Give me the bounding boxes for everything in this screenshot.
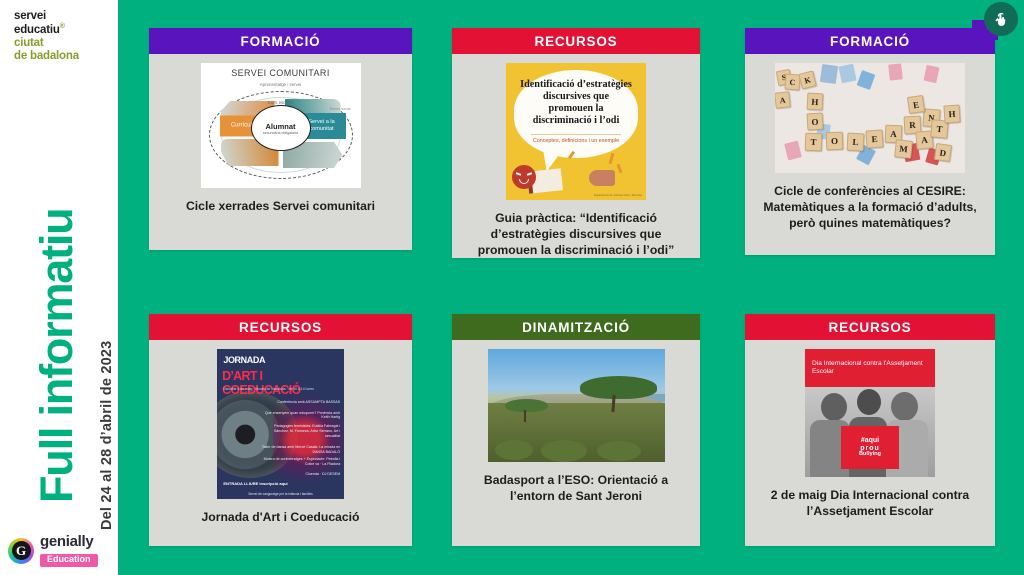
poster-program-item: Pedagogies feministes: Eulàlia Fabregat … [261, 424, 340, 439]
chip-pink-3 [785, 141, 803, 161]
poster-footnote: Servei de canguratge per la infància i f… [217, 492, 344, 496]
poster-program-item: Mostra de curtmetratges + Espectacle: Pe… [261, 457, 340, 467]
scrabble-tiles-photo: S A C K H O T O L E A R N M A T H [775, 63, 965, 173]
chip-pink-1 [888, 63, 903, 80]
card-body: Badasport a l’ESO: Orientació a l’entorn… [452, 340, 700, 514]
poster-title-line-1: JORNADA [223, 355, 337, 365]
photo-bush [597, 441, 641, 461]
content-card[interactable]: FORMACIÓ SERVEI COMUNITARI Aprenentatge … [149, 28, 412, 250]
page-title: Full informatiu [31, 63, 83, 503]
photo-tree-trunk [612, 395, 616, 413]
card-category-badge: RECURSOS [745, 314, 995, 340]
poster-subtitle: Conceptes, definicions i un exemple [531, 134, 621, 145]
card-category-badge: RECURSOS [452, 28, 700, 54]
photo-bush [495, 440, 533, 460]
antibullying-image: Dia Internacional contra l’Assetjament E… [805, 349, 935, 477]
card-category-badge: FORMACIÓ [149, 28, 412, 54]
scrabble-tile: H [807, 92, 824, 110]
photo-tree-canopy [580, 376, 658, 398]
scrabble-tile: E [866, 130, 884, 149]
content-card[interactable]: FORMACIÓ S A C K H [745, 28, 995, 255]
slide-canvas: servei educatiu® ciutat de badalona Full… [0, 0, 1024, 575]
poster-hand-illustration [589, 170, 615, 186]
hashtag-badge: #aqui prou Bullying [841, 426, 898, 470]
card-category-badge: RECURSOS [149, 314, 412, 340]
poster-program-item: Què ensenyem quan eduquem? Ponència amb … [261, 411, 340, 421]
poster-program-item: Cloenda · DJ DESEM [261, 472, 340, 477]
photo-person-head [857, 389, 881, 415]
card-body: S A C K H O T O L E A R N M A T H [745, 54, 995, 241]
poster-spark-1 [608, 153, 614, 164]
genially-logo-letter: G [12, 541, 31, 560]
card-thumbnail: Identificació d’estratègies discursives … [506, 63, 646, 200]
scrabble-tile: M [894, 139, 913, 159]
card-thumbnail: SERVEI COMUNITARI Aprenentatge i servei … [201, 63, 361, 188]
servei-comunitari-diagram: SERVEI COMUNITARI Aprenentatge i servei … [201, 63, 361, 188]
poster-subtitle: Dissabte 6 de maig · Museu de Badalona ·… [223, 387, 337, 391]
scrabble-tile: E [907, 95, 925, 114]
card-caption: 2 de maig Dia Internacional contra l’Ass… [755, 487, 985, 519]
photo-bush [541, 440, 587, 462]
photo-person-head [821, 393, 847, 421]
card-body: JORNADA D’ART I COEDUCACIÓ Dissabte 6 de… [149, 340, 412, 535]
card-caption: Cicle de conferències al CESIRE: Matemàt… [755, 183, 985, 231]
hand-pointer-icon [993, 11, 1010, 28]
poster-face-mouth [519, 179, 529, 184]
card-caption: Guia pràctica: “Identificació d’estratèg… [462, 210, 690, 258]
scrabble-tile: A [775, 91, 791, 108]
card-category-badge: FORMACIÓ [745, 28, 995, 54]
hashtag-line-1: #aqui [861, 437, 879, 444]
card-thumbnail: S A C K H O T O L E A R N M A T H [775, 63, 965, 173]
card-caption: Cicle xerrades Servei comunitari [184, 198, 377, 214]
poster-angry-face-icon [512, 165, 536, 189]
interactive-hint-button[interactable] [984, 2, 1018, 36]
scrabble-tile: K [798, 70, 816, 89]
scrabble-tile: D [933, 143, 951, 162]
scrabble-tile: H [943, 104, 960, 123]
logo-line-1: servei [14, 10, 106, 23]
card-thumbnail [488, 349, 665, 462]
diagram-center-node: Alumnat secundària obligatòria [251, 105, 311, 151]
organization-logo: servei educatiu® ciutat de badalona [14, 10, 106, 63]
chip-blue-3 [856, 70, 875, 90]
jornada-art-poster: JORNADA D’ART I COEDUCACIÓ Dissabte 6 de… [217, 349, 344, 499]
poster-credit: Departament de Justícia, Drets i Memòria [594, 194, 642, 197]
speech-bubble-tail [542, 145, 566, 171]
logo-line-2: educatiu® [14, 23, 106, 37]
diagram-title: SERVEI COMUNITARI [201, 68, 361, 78]
photo-tree-canopy [505, 399, 547, 412]
card-body: Identificació d’estratègies discursives … [452, 54, 700, 268]
card-category-badge: DINAMITZACIÓ [452, 314, 700, 340]
vertical-title-block: Full informatiu Del 24 al 28 d’abril de … [0, 62, 110, 512]
genially-brand[interactable]: G genially Education [8, 534, 98, 567]
date-range-subtitle: Del 24 al 28 d’abril de 2023 [99, 270, 115, 530]
scrabble-tile: O [826, 132, 844, 151]
poster-title: Identificació d’estratègies discursives … [520, 79, 632, 127]
scrabble-tile: L [847, 133, 865, 152]
content-card[interactable]: RECURSOS Dia Internacional contra l’Asse… [745, 314, 995, 546]
sant-jeroni-landscape-photo [488, 349, 665, 462]
diagram-subtitle: Aprenentatge i servei [201, 82, 361, 87]
hashtag-line-3: Bullying [859, 452, 881, 458]
image-banner-text: Dia Internacional contra l’Assetjament E… [805, 349, 935, 387]
card-thumbnail: Dia Internacional contra l’Assetjament E… [805, 349, 935, 477]
chip-blue-1 [819, 64, 837, 84]
poster-footer: ENTRADA LLIURE inscripció aquí [223, 481, 287, 486]
poster-title-line-2: D’ART I COEDUCACIÓ [222, 369, 339, 397]
scrabble-tile: O [807, 112, 824, 130]
genially-text: genially Education [40, 534, 98, 567]
card-caption: Badasport a l’ESO: Orientació a l’entorn… [462, 472, 690, 504]
card-thumbnail: JORNADA D’ART I COEDUCACIÓ Dissabte 6 de… [217, 349, 344, 499]
diagram-center-label: Alumnat [266, 122, 296, 131]
logo-line-3: ciutat [14, 37, 106, 50]
content-card[interactable]: DINAMITZACIÓ [452, 314, 700, 546]
poster-spark-2 [617, 163, 623, 172]
photo-tree-large [580, 376, 658, 412]
genially-education-badge: Education [40, 554, 98, 567]
chip-blue-2 [838, 64, 856, 84]
photo-tree-trunk [524, 410, 526, 422]
scrabble-tile: C [784, 73, 800, 90]
card-body: SERVEI COMUNITARI Aprenentatge i servei … [149, 54, 412, 224]
photo-person-head [891, 392, 918, 421]
registered-mark-icon: ® [60, 23, 65, 30]
sidebar: servei educatiu® ciutat de badalona Full… [0, 0, 110, 575]
photo-tree-small [505, 399, 547, 422]
card-caption: Jornada d'Art i Coeducació [200, 509, 362, 525]
scrabble-tile: T [805, 133, 823, 152]
content-card[interactable]: RECURSOS JORNADA D’ART I COEDUCACIÓ Diss… [149, 314, 412, 546]
diagram-center-sublabel: secundària obligatòria [263, 131, 298, 135]
poster-program-item: Conferència amb ASSUMPTA BASSAS [261, 400, 340, 405]
poster-red-glow [273, 394, 344, 484]
genially-name: genially [40, 534, 98, 550]
chip-pink-2 [924, 65, 940, 83]
card-body: Dia Internacional contra l’Assetjament E… [745, 340, 995, 529]
diagram-side-label: Entorn social [330, 107, 351, 111]
guia-practica-poster: Identificació d’estratègies discursives … [506, 63, 646, 200]
poster-program-item: Taller de dansa amb Mercè Casals: La mir… [261, 445, 340, 455]
genially-logo-icon: G [8, 538, 34, 564]
content-card[interactable]: RECURSOS Identificació d’estratègies dis… [452, 28, 700, 258]
